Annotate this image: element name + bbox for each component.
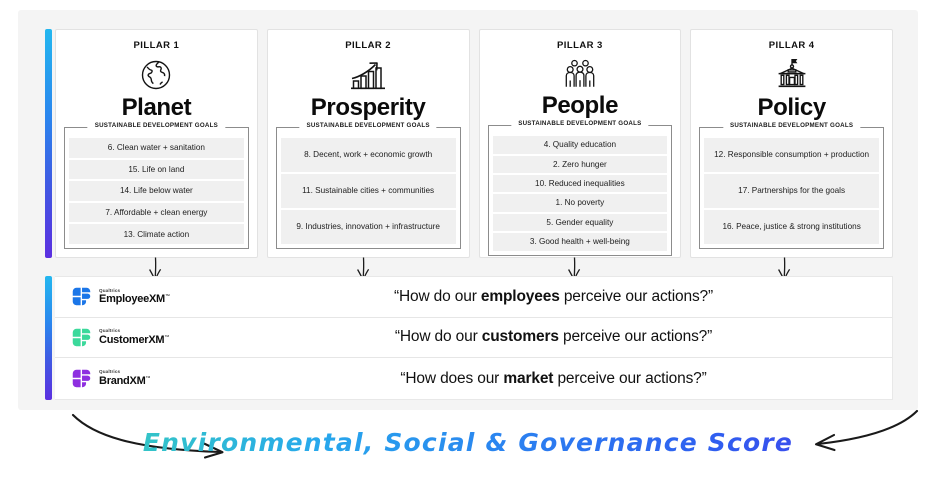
sdg-goal-item[interactable]: 2. Zero hunger: [493, 156, 668, 173]
pillar-kicker: PILLAR 4: [769, 40, 815, 51]
sdg-goal-item[interactable]: 16. Peace, justice & strong institutions: [704, 210, 879, 244]
pillar-title: People: [542, 93, 618, 118]
qualtrics-mark-icon: [71, 368, 92, 389]
gradient-rail-top: [45, 29, 52, 258]
sdg-goals-box: SUSTAINABLE DEVELOPMENT GOALS 4. Quality…: [488, 125, 673, 256]
sdg-legend: SUSTAINABLE DEVELOPMENT GOALS: [88, 122, 225, 129]
pillar-card-row: PILLAR 1 Planet SUSTAINABLE DEVELOPMENT …: [55, 29, 893, 258]
sdg-goal-item[interactable]: 5. Gender equality: [493, 214, 668, 231]
sdg-goal-item[interactable]: 6. Clean water + sanitation: [69, 138, 244, 158]
pillar-card-prosperity[interactable]: PILLAR 2 Prosperity SUSTAINABLE DEVELOPM…: [267, 29, 470, 258]
pillar-card-people[interactable]: PILLAR 3 People SUSTAINABL: [479, 29, 682, 258]
gradient-rail-bottom: [45, 276, 52, 400]
sdg-goal-item[interactable]: 4. Quality education: [493, 136, 668, 153]
pillar-card-planet[interactable]: PILLAR 1 Planet SUSTAINABLE DEVELOPMENT …: [55, 29, 258, 258]
trademark-symbol: ™: [146, 375, 151, 381]
quote-prefix: “How do our: [395, 328, 482, 345]
sdg-goal-item[interactable]: 17. Partnerships for the goals: [704, 174, 879, 208]
product-name: CustomerXM: [99, 334, 164, 346]
sdg-goal-item[interactable]: 9. Industries, innovation + infrastructu…: [281, 210, 456, 244]
growth-chart-icon: [348, 56, 388, 94]
pillar-title: Planet: [122, 95, 192, 120]
quote-prefix: “How do our: [394, 288, 481, 305]
product-name: EmployeeXM: [99, 293, 165, 305]
sdg-goal-item[interactable]: 3. Good health + well-being: [493, 233, 668, 250]
employeexm-wordmark: Qualtrics EmployeeXM™: [99, 289, 170, 306]
sdg-goal-item[interactable]: 15. Life on land: [69, 160, 244, 180]
quote-emphasis: employees: [481, 288, 560, 305]
sdg-legend: SUSTAINABLE DEVELOPMENT GOALS: [299, 122, 436, 129]
trademark-symbol: ™: [165, 293, 170, 299]
employeexm-logo: Qualtrics EmployeeXM™: [55, 286, 225, 307]
infographic-canvas: PILLAR 1 Planet SUSTAINABLE DEVELOPMENT …: [0, 0, 936, 478]
product-question: “How does our market perceive our action…: [225, 370, 892, 388]
sdg-goal-item[interactable]: 12. Responsible consumption + production: [704, 138, 879, 172]
product-question: “How do our customers perceive our actio…: [225, 328, 892, 346]
sdg-legend: SUSTAINABLE DEVELOPMENT GOALS: [511, 120, 648, 127]
pillar-title: Prosperity: [311, 95, 426, 120]
sdg-goal-item[interactable]: 7. Affordable + clean energy: [69, 203, 244, 223]
sdg-goals-box: SUSTAINABLE DEVELOPMENT GOALS 6. Clean w…: [64, 127, 249, 249]
people-group-icon: [562, 56, 598, 92]
qualtrics-mark-icon: [71, 286, 92, 307]
quote-emphasis: customers: [482, 328, 559, 345]
product-question-list: Qualtrics EmployeeXM™ “How do our employ…: [55, 276, 893, 400]
quote-emphasis: market: [503, 370, 553, 387]
pillar-card-policy[interactable]: PILLAR 4 Policy: [690, 29, 893, 258]
sdg-goal-item[interactable]: 1. No poverty: [493, 194, 668, 211]
product-name: BrandXM: [99, 375, 146, 387]
quote-suffix: perceive our actions?”: [559, 328, 712, 345]
pillar-title: Policy: [757, 95, 825, 120]
customerxm-logo: Qualtrics CustomerXM™: [55, 327, 225, 348]
sdg-goals-box: SUSTAINABLE DEVELOPMENT GOALS 8. Decent,…: [276, 127, 461, 249]
quote-suffix: perceive our actions?”: [560, 288, 713, 305]
brandxm-wordmark: Qualtrics BrandXM™: [99, 370, 150, 387]
quote-prefix: “How does our: [400, 370, 503, 387]
esg-score-headline: Environmental, Social & Governance Score: [0, 428, 936, 457]
product-question: “How do our employees perceive our actio…: [225, 288, 892, 306]
globe-icon: [138, 56, 174, 94]
sdg-goal-item[interactable]: 11. Sustainable cities + communities: [281, 174, 456, 208]
qualtrics-mark-icon: [71, 327, 92, 348]
government-building-icon: [773, 56, 811, 94]
list-item-customerxm[interactable]: Qualtrics CustomerXM™ “How do our custom…: [55, 318, 892, 359]
sdg-goals-box: SUSTAINABLE DEVELOPMENT GOALS 12. Respon…: [699, 127, 884, 249]
trademark-symbol: ™: [164, 334, 169, 340]
quote-suffix: perceive our actions?”: [553, 370, 706, 387]
list-item-employeexm[interactable]: Qualtrics EmployeeXM™ “How do our employ…: [55, 277, 892, 318]
sdg-legend: SUSTAINABLE DEVELOPMENT GOALS: [723, 122, 860, 129]
brandxm-logo: Qualtrics BrandXM™: [55, 368, 225, 389]
pillar-kicker: PILLAR 2: [345, 40, 391, 51]
sdg-goal-item[interactable]: 14. Life below water: [69, 181, 244, 201]
customerxm-wordmark: Qualtrics CustomerXM™: [99, 329, 169, 346]
pillar-kicker: PILLAR 3: [557, 40, 603, 51]
sdg-goal-item[interactable]: 13. Climate action: [69, 224, 244, 244]
pillar-kicker: PILLAR 1: [133, 40, 179, 51]
sdg-goal-item[interactable]: 10. Reduced inequalities: [493, 175, 668, 192]
sdg-goal-item[interactable]: 8. Decent, work + economic growth: [281, 138, 456, 172]
list-item-brandxm[interactable]: Qualtrics BrandXM™ “How does our market …: [55, 358, 892, 399]
